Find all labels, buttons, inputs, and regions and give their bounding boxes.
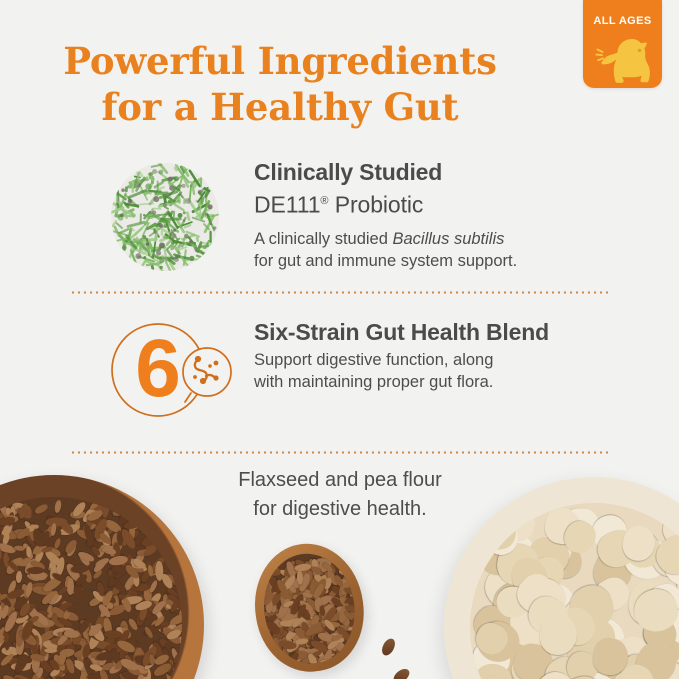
svg-text:6: 6 (135, 323, 181, 414)
de111-label: DE111 (254, 192, 320, 218)
page-title: Powerful Ingredients for a Healthy Gut (0, 38, 560, 130)
all-ages-badge-label: ALL AGES (583, 15, 662, 27)
page-title-line-2: for a Healthy Gut (0, 84, 560, 130)
feature-2-body: Support digestive function, along with m… (254, 349, 619, 393)
divider-2 (70, 451, 610, 454)
loose-flaxseed (379, 636, 397, 657)
feature-2-body-line-1: Support digestive function, along (254, 351, 493, 369)
feature-1-heading-line-2: DE111® Probiotic (254, 186, 619, 220)
feature-1-body: A clinically studied Bacillus subtilis f… (254, 228, 619, 272)
infographic-page: ALL AGES Powerful Ingredients for a Heal… (0, 0, 679, 679)
feature-2-text-column: Six-Strain Gut Health Blend Support dige… (254, 318, 619, 393)
feature-1-icon-column (104, 158, 234, 268)
loose-flaxseed (391, 666, 412, 679)
feature-clinically-studied: Clinically Studied DE111® Probiotic A cl… (0, 158, 679, 282)
all-ages-badge: ALL AGES (583, 0, 662, 88)
bottom-caption-line-1: Flaxseed and pea flour (238, 469, 441, 491)
divider-1 (70, 291, 610, 294)
feature-2-heading: Six-Strain Gut Health Blend (254, 318, 619, 346)
probiotic-label: Probiotic (328, 192, 423, 218)
feature-six-strain-blend: 6 (0, 318, 679, 428)
feature-2-body-line-2: with maintaining proper gut flora. (254, 373, 493, 391)
bacteria-microscopy-icon (111, 163, 219, 271)
page-title-line-1: Powerful Ingredients (63, 39, 497, 83)
feature-2-icon-column: 6 (104, 318, 234, 428)
feature-1-body-pre: A clinically studied (254, 230, 393, 248)
bottom-caption: Flaxseed and pea flour for digestive hea… (140, 466, 540, 524)
wooden-spoon-of-flaxseed (247, 536, 381, 679)
feature-1-text-column: Clinically Studied DE111® Probiotic A cl… (254, 158, 619, 272)
bottom-caption-line-2: for digestive health. (253, 498, 426, 520)
feature-1-body-line-2: for gut and immune system support. (254, 252, 517, 270)
sitting-dog-icon (591, 33, 655, 83)
bacillus-subtilis-italic: Bacillus subtilis (393, 230, 505, 248)
feature-1-heading-line-1: Clinically Studied (254, 158, 619, 186)
six-strain-icon: 6 (106, 320, 232, 420)
